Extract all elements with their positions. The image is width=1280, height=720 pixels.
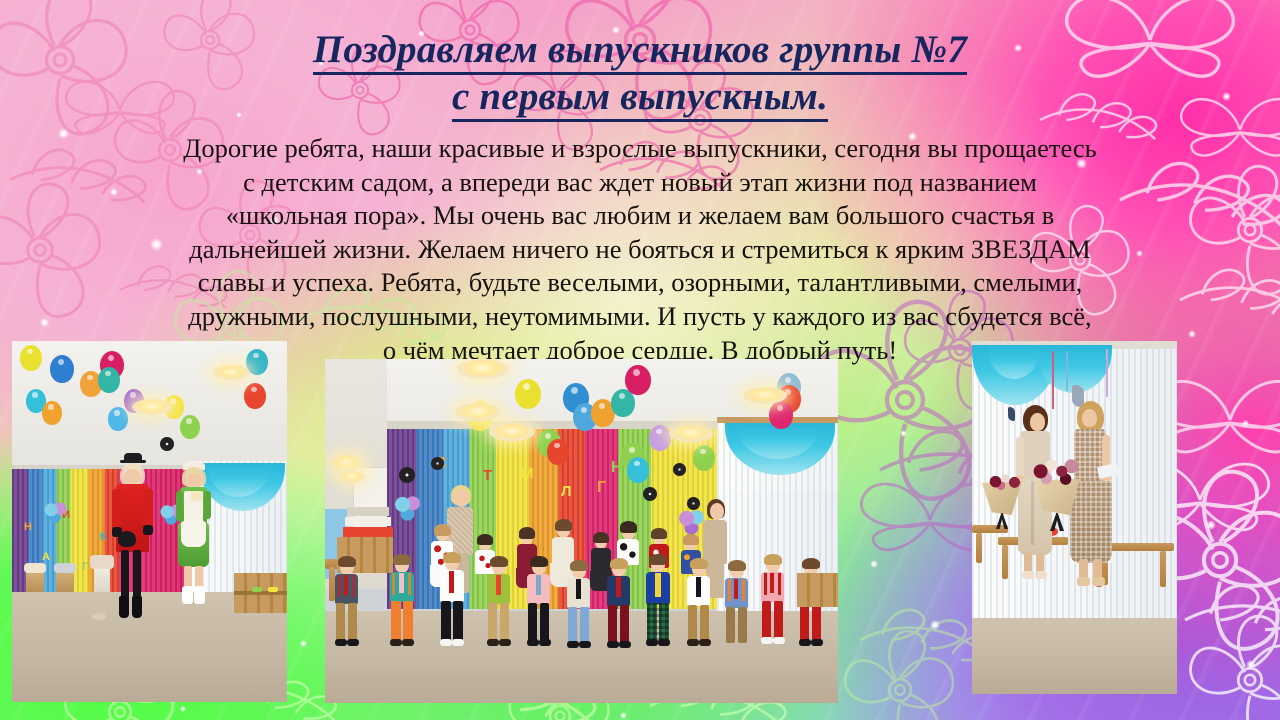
body-line: дружными, послушными, неутомимыми. И пус… <box>96 300 1184 334</box>
body-line: «школьная пора». Мы очень вас любим и же… <box>96 199 1184 233</box>
body-paragraph: Дорогие ребята, наши красивые и взрослые… <box>96 132 1184 367</box>
photo-center: С Т М Л Г Н <box>325 359 838 703</box>
photo-right <box>972 341 1177 694</box>
body-line: Дорогие ребята, наши красивые и взрослые… <box>96 132 1184 166</box>
photo-center-scene: С Т М Л Г Н <box>325 359 838 703</box>
photo-left: Н И К Г А <box>12 341 287 702</box>
photo-left-scene: Н И К Г А <box>12 341 287 702</box>
photo-right-scene <box>972 341 1177 694</box>
body-line: славы и успеха. Ребята, будьте веселыми,… <box>96 266 1184 300</box>
body-line: с детским садом, а впереди вас ждет новы… <box>96 166 1184 200</box>
slide-root: Поздравляем выпускников группы №7 с перв… <box>0 0 1280 720</box>
body-line: дальнейшей жизни. Желаем ничего не боять… <box>96 233 1184 267</box>
